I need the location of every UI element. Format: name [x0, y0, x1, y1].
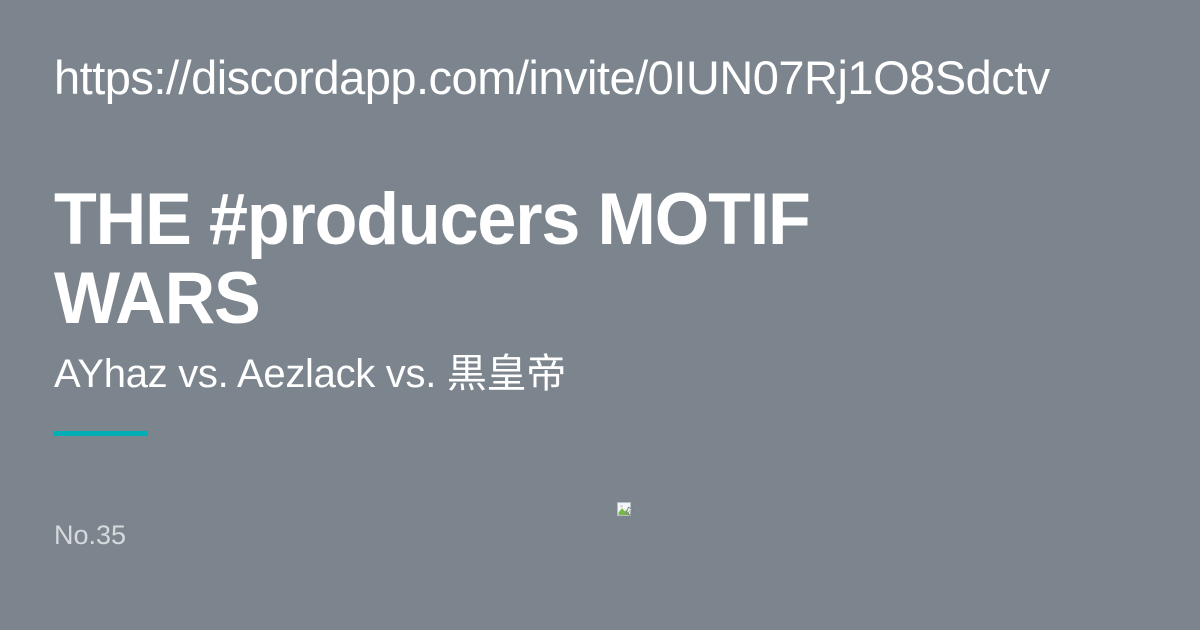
page-title: THE #producers MOTIF WARS [54, 180, 918, 338]
link-preview-card: https://discordapp.com/invite/0IUN07Rj1O… [0, 0, 1200, 630]
footer-number: No.35 [54, 519, 126, 551]
page-subtitle: AYhaz vs. Aezlack vs. 黒皇帝 [54, 350, 1104, 398]
broken-image-icon [617, 502, 634, 519]
preview-url[interactable]: https://discordapp.com/invite/0IUN07Rj1O… [54, 52, 1084, 104]
accent-divider [54, 431, 148, 436]
